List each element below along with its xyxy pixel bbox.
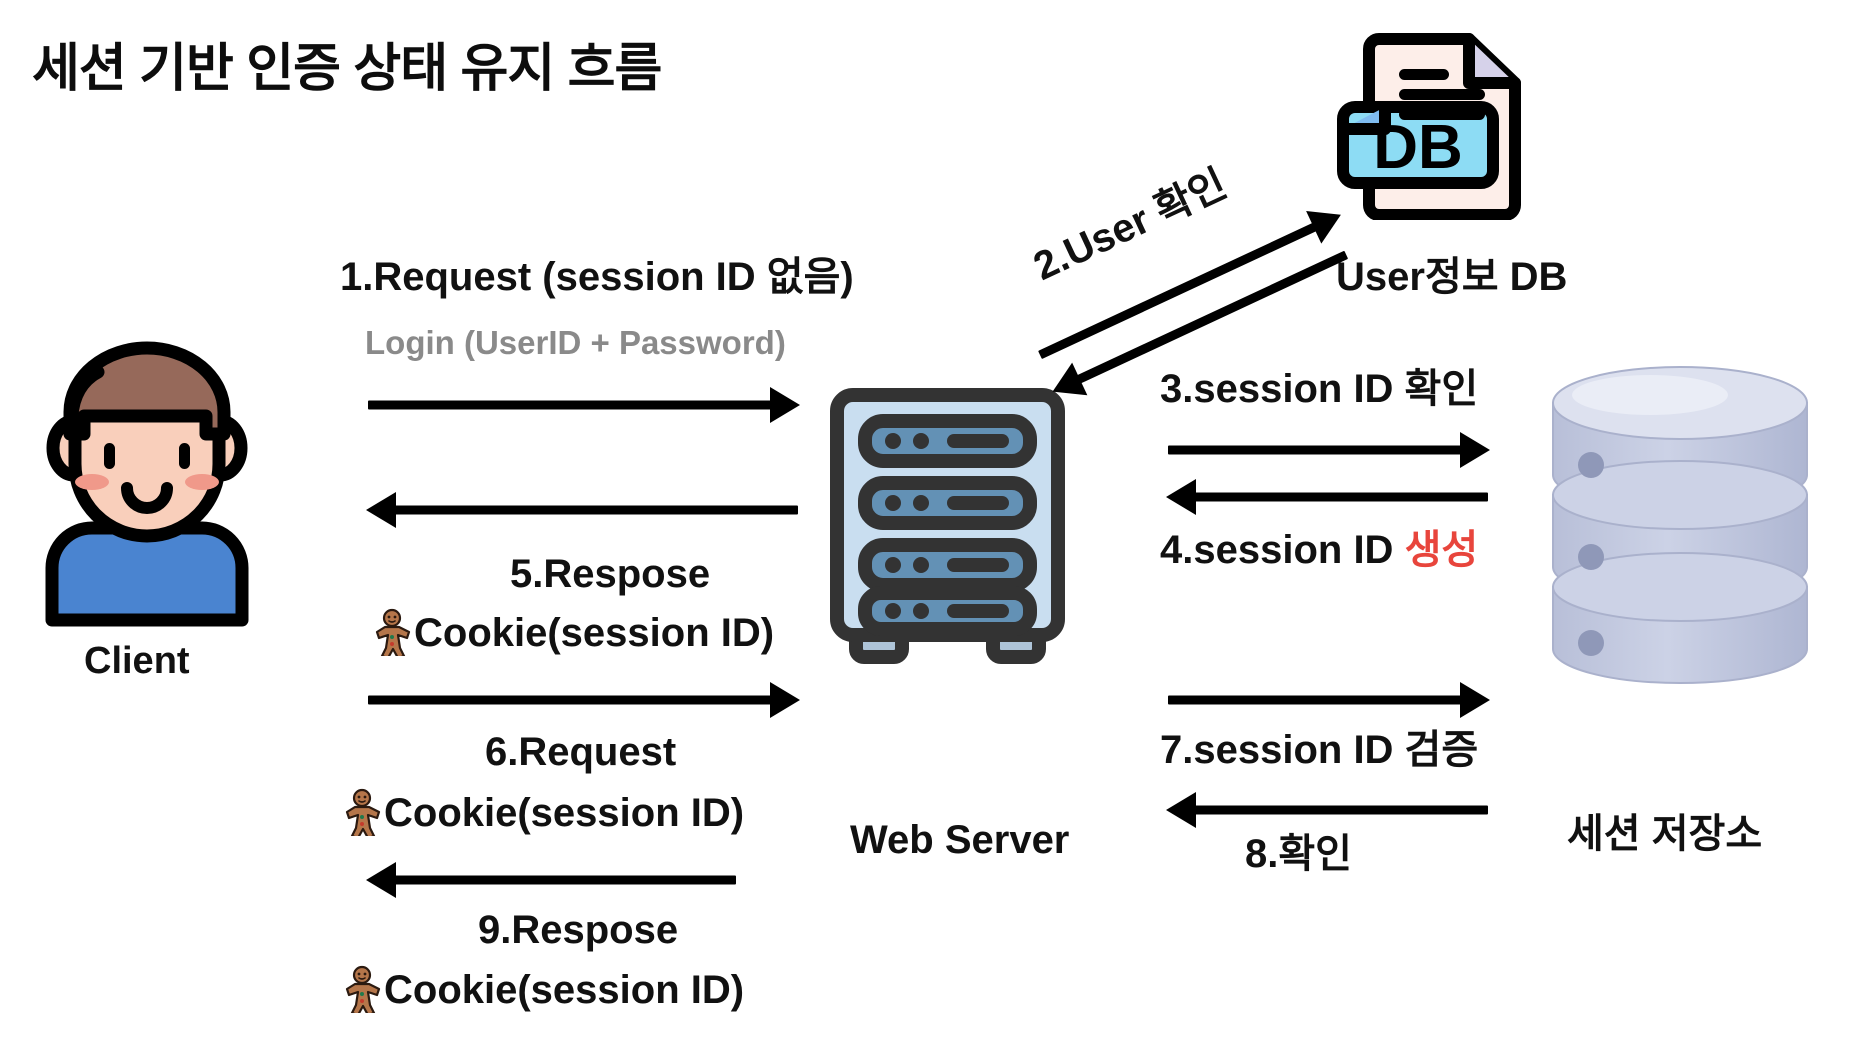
gingerbread-cookie-icon: [340, 788, 384, 836]
session-store-label: 세션 저장소: [1567, 812, 1762, 857]
user-avatar-icon: [42, 330, 252, 630]
flow-2-label: 2.User 확인: [1027, 162, 1234, 290]
flow-9-cookie-line: Cookie(session ID): [340, 965, 744, 1013]
flow-4-label-accent: 생성: [1405, 528, 1479, 572]
user-db-label: User정보 DB: [1336, 255, 1567, 300]
flow-5-cookie-line: Cookie(session ID): [370, 608, 774, 656]
flow-5-cookie-text: Cookie(session ID): [414, 611, 774, 655]
gingerbread-cookie-icon: [370, 608, 414, 656]
flow-9-label: 9.Respose: [478, 908, 678, 953]
flow-6-cookie-text: Cookie(session ID): [384, 791, 744, 835]
server-rack-icon: [825, 383, 1070, 683]
gingerbread-cookie-icon: [340, 965, 384, 1013]
flow-3-label: 3.session ID 확인: [1160, 367, 1478, 412]
flow-6-label: 6.Request: [485, 730, 676, 775]
page-title: 세션 기반 인증 상태 유지 흐름: [32, 26, 661, 101]
db-document-icon: DB: [1335, 25, 1535, 220]
web-server-label: Web Server: [850, 818, 1069, 863]
database-cylinder-icon: [1545, 355, 1815, 685]
flow-6-cookie-line: Cookie(session ID): [340, 788, 744, 836]
flow-9-cookie-text: Cookie(session ID): [384, 968, 744, 1012]
flow-1-label: 1.Request (session ID 없음): [340, 255, 854, 300]
flow-5-label: 5.Respose: [510, 552, 710, 597]
db-badge-text: DB: [1373, 113, 1463, 182]
flow-4-label-plain: 4.session ID: [1160, 528, 1405, 572]
flow-4-label: 4.session ID 생성: [1160, 528, 1478, 573]
client-label: Client: [84, 640, 190, 683]
flow-1-sublabel: Login (UserID + Password): [365, 325, 786, 362]
flow-8-label: 8.확인: [1245, 832, 1352, 877]
flow-7-label: 7.session ID 검증: [1160, 728, 1478, 773]
